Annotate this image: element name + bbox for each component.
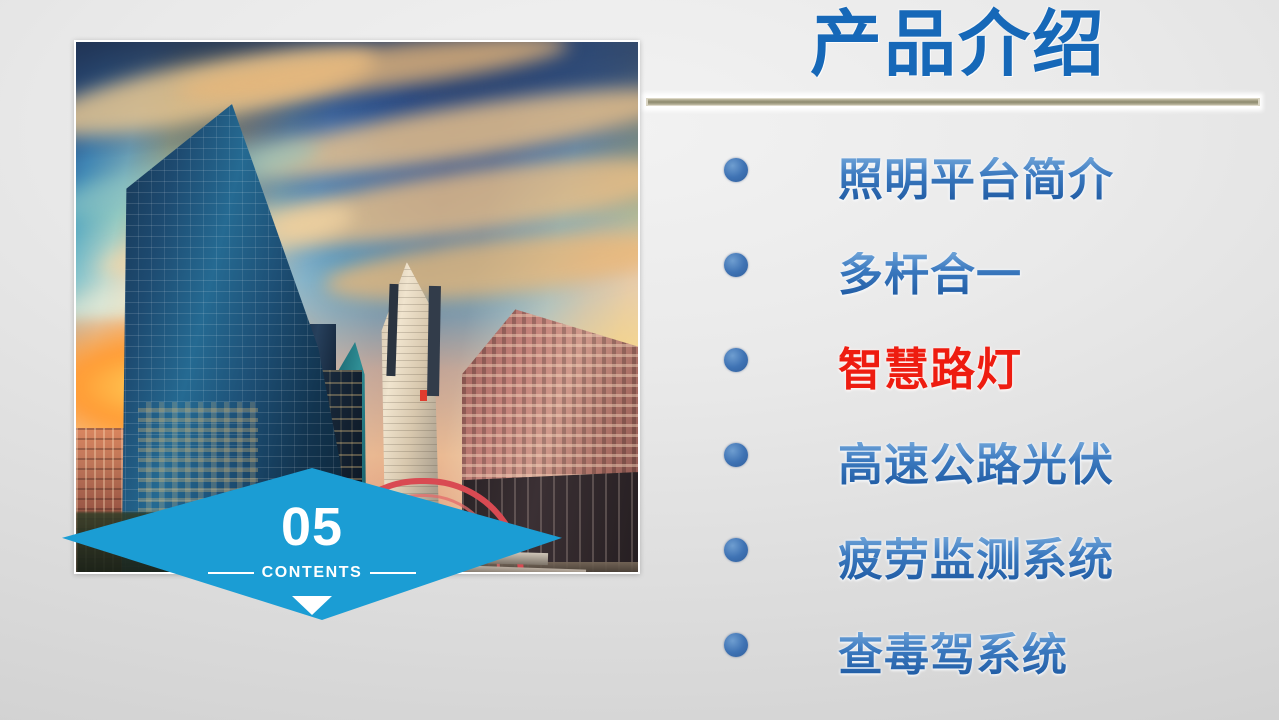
bullet-dot-icon [724, 158, 748, 182]
page-title: 产品介绍 [648, 4, 1268, 87]
agenda-list: 照明平台简介 多杆合一 智慧路灯 高速公路光伏 疲劳监测系统 查毒驾系统 [648, 132, 1268, 702]
list-item-label: 多杆合一 [838, 252, 1022, 297]
list-item-label: 照明平台简介 [838, 157, 1114, 202]
list-item[interactable]: 多杆合一 [648, 227, 1268, 322]
list-item[interactable]: 照明平台简介 [648, 132, 1268, 227]
list-item[interactable]: 查毒驾系统 [648, 607, 1268, 702]
bullet-dot-icon [724, 253, 748, 277]
bullet-dot-icon [724, 443, 748, 467]
tower-beacon [420, 390, 427, 401]
list-item[interactable]: 疲劳监测系统 [648, 512, 1268, 607]
divider-bar [646, 98, 1260, 106]
presentation-slide: 05 CONTENTS 产品介绍 照明平台简介 多杆合一 智慧路灯 高速公路光伏 [0, 0, 1279, 720]
list-item-label: 查毒驾系统 [838, 632, 1068, 677]
list-item-active[interactable]: 智慧路灯 [648, 322, 1268, 417]
list-item-label: 疲劳监测系统 [838, 537, 1114, 582]
bullet-dot-icon [724, 633, 748, 657]
bullet-dot-icon [724, 538, 748, 562]
list-item[interactable]: 高速公路光伏 [648, 417, 1268, 512]
list-item-label: 高速公路光伏 [838, 442, 1114, 487]
tower-detail [427, 286, 441, 396]
title-divider [646, 96, 1260, 108]
bullet-dot-icon [724, 348, 748, 372]
list-item-label: 智慧路灯 [838, 347, 1022, 392]
